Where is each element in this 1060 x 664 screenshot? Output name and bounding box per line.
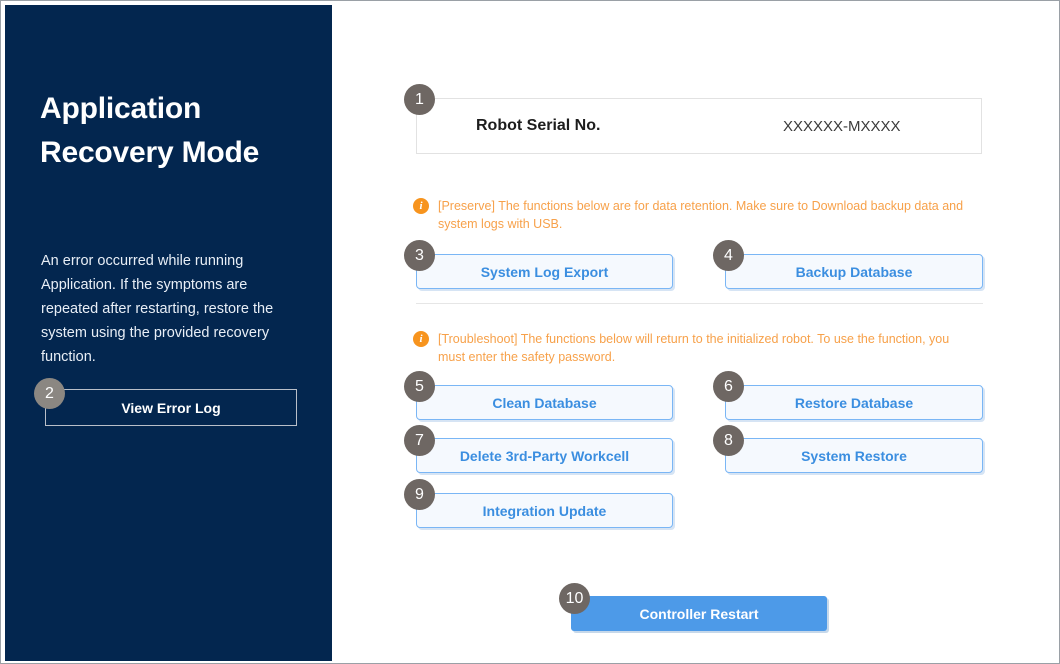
robot-serial-label: Robot Serial No. [476, 117, 600, 135]
info-icon: i [413, 198, 429, 214]
step-badge-5: 5 [404, 371, 435, 402]
clean-database-button[interactable]: Clean Database [416, 385, 673, 420]
delete-third-party-workcell-button[interactable]: Delete 3rd-Party Workcell [416, 438, 673, 473]
integration-update-button[interactable]: Integration Update [416, 493, 673, 528]
preserve-info-row: i [Preserve] The functions below are for… [413, 197, 973, 233]
error-description-text: An error occurred while running Applicat… [41, 249, 299, 369]
backup-database-button[interactable]: Backup Database [725, 254, 983, 289]
main-content: 1 Robot Serial No. XXXXXX-MXXXX i [Prese… [332, 5, 1057, 661]
step-badge-9: 9 [404, 479, 435, 510]
step-badge-1: 1 [404, 84, 435, 115]
step-badge-2: 2 [34, 378, 65, 409]
system-log-export-button[interactable]: System Log Export [416, 254, 673, 289]
preserve-info-text: [Preserve] The functions below are for d… [438, 197, 973, 233]
robot-serial-value: XXXXXX-MXXXX [783, 118, 901, 135]
step-badge-7: 7 [404, 425, 435, 456]
step-badge-3: 3 [404, 240, 435, 271]
troubleshoot-info-row: i [Troubleshoot] The functions below wil… [413, 330, 973, 366]
robot-serial-panel: Robot Serial No. XXXXXX-MXXXX [416, 98, 982, 154]
step-badge-8: 8 [713, 425, 744, 456]
step-badge-4: 4 [713, 240, 744, 271]
view-error-log-button[interactable]: View Error Log [45, 389, 297, 426]
controller-restart-button[interactable]: Controller Restart [571, 596, 827, 631]
sidebar: Application Recovery Mode An error occur… [5, 5, 332, 661]
page-title: Application Recovery Mode [40, 87, 300, 175]
troubleshoot-info-text: [Troubleshoot] The functions below will … [438, 330, 973, 366]
section-divider [416, 303, 983, 304]
info-icon: i [413, 331, 429, 347]
system-restore-button[interactable]: System Restore [725, 438, 983, 473]
restore-database-button[interactable]: Restore Database [725, 385, 983, 420]
step-badge-6: 6 [713, 371, 744, 402]
application-recovery-mode-window: Application Recovery Mode An error occur… [0, 0, 1060, 664]
step-badge-10: 10 [559, 583, 590, 614]
